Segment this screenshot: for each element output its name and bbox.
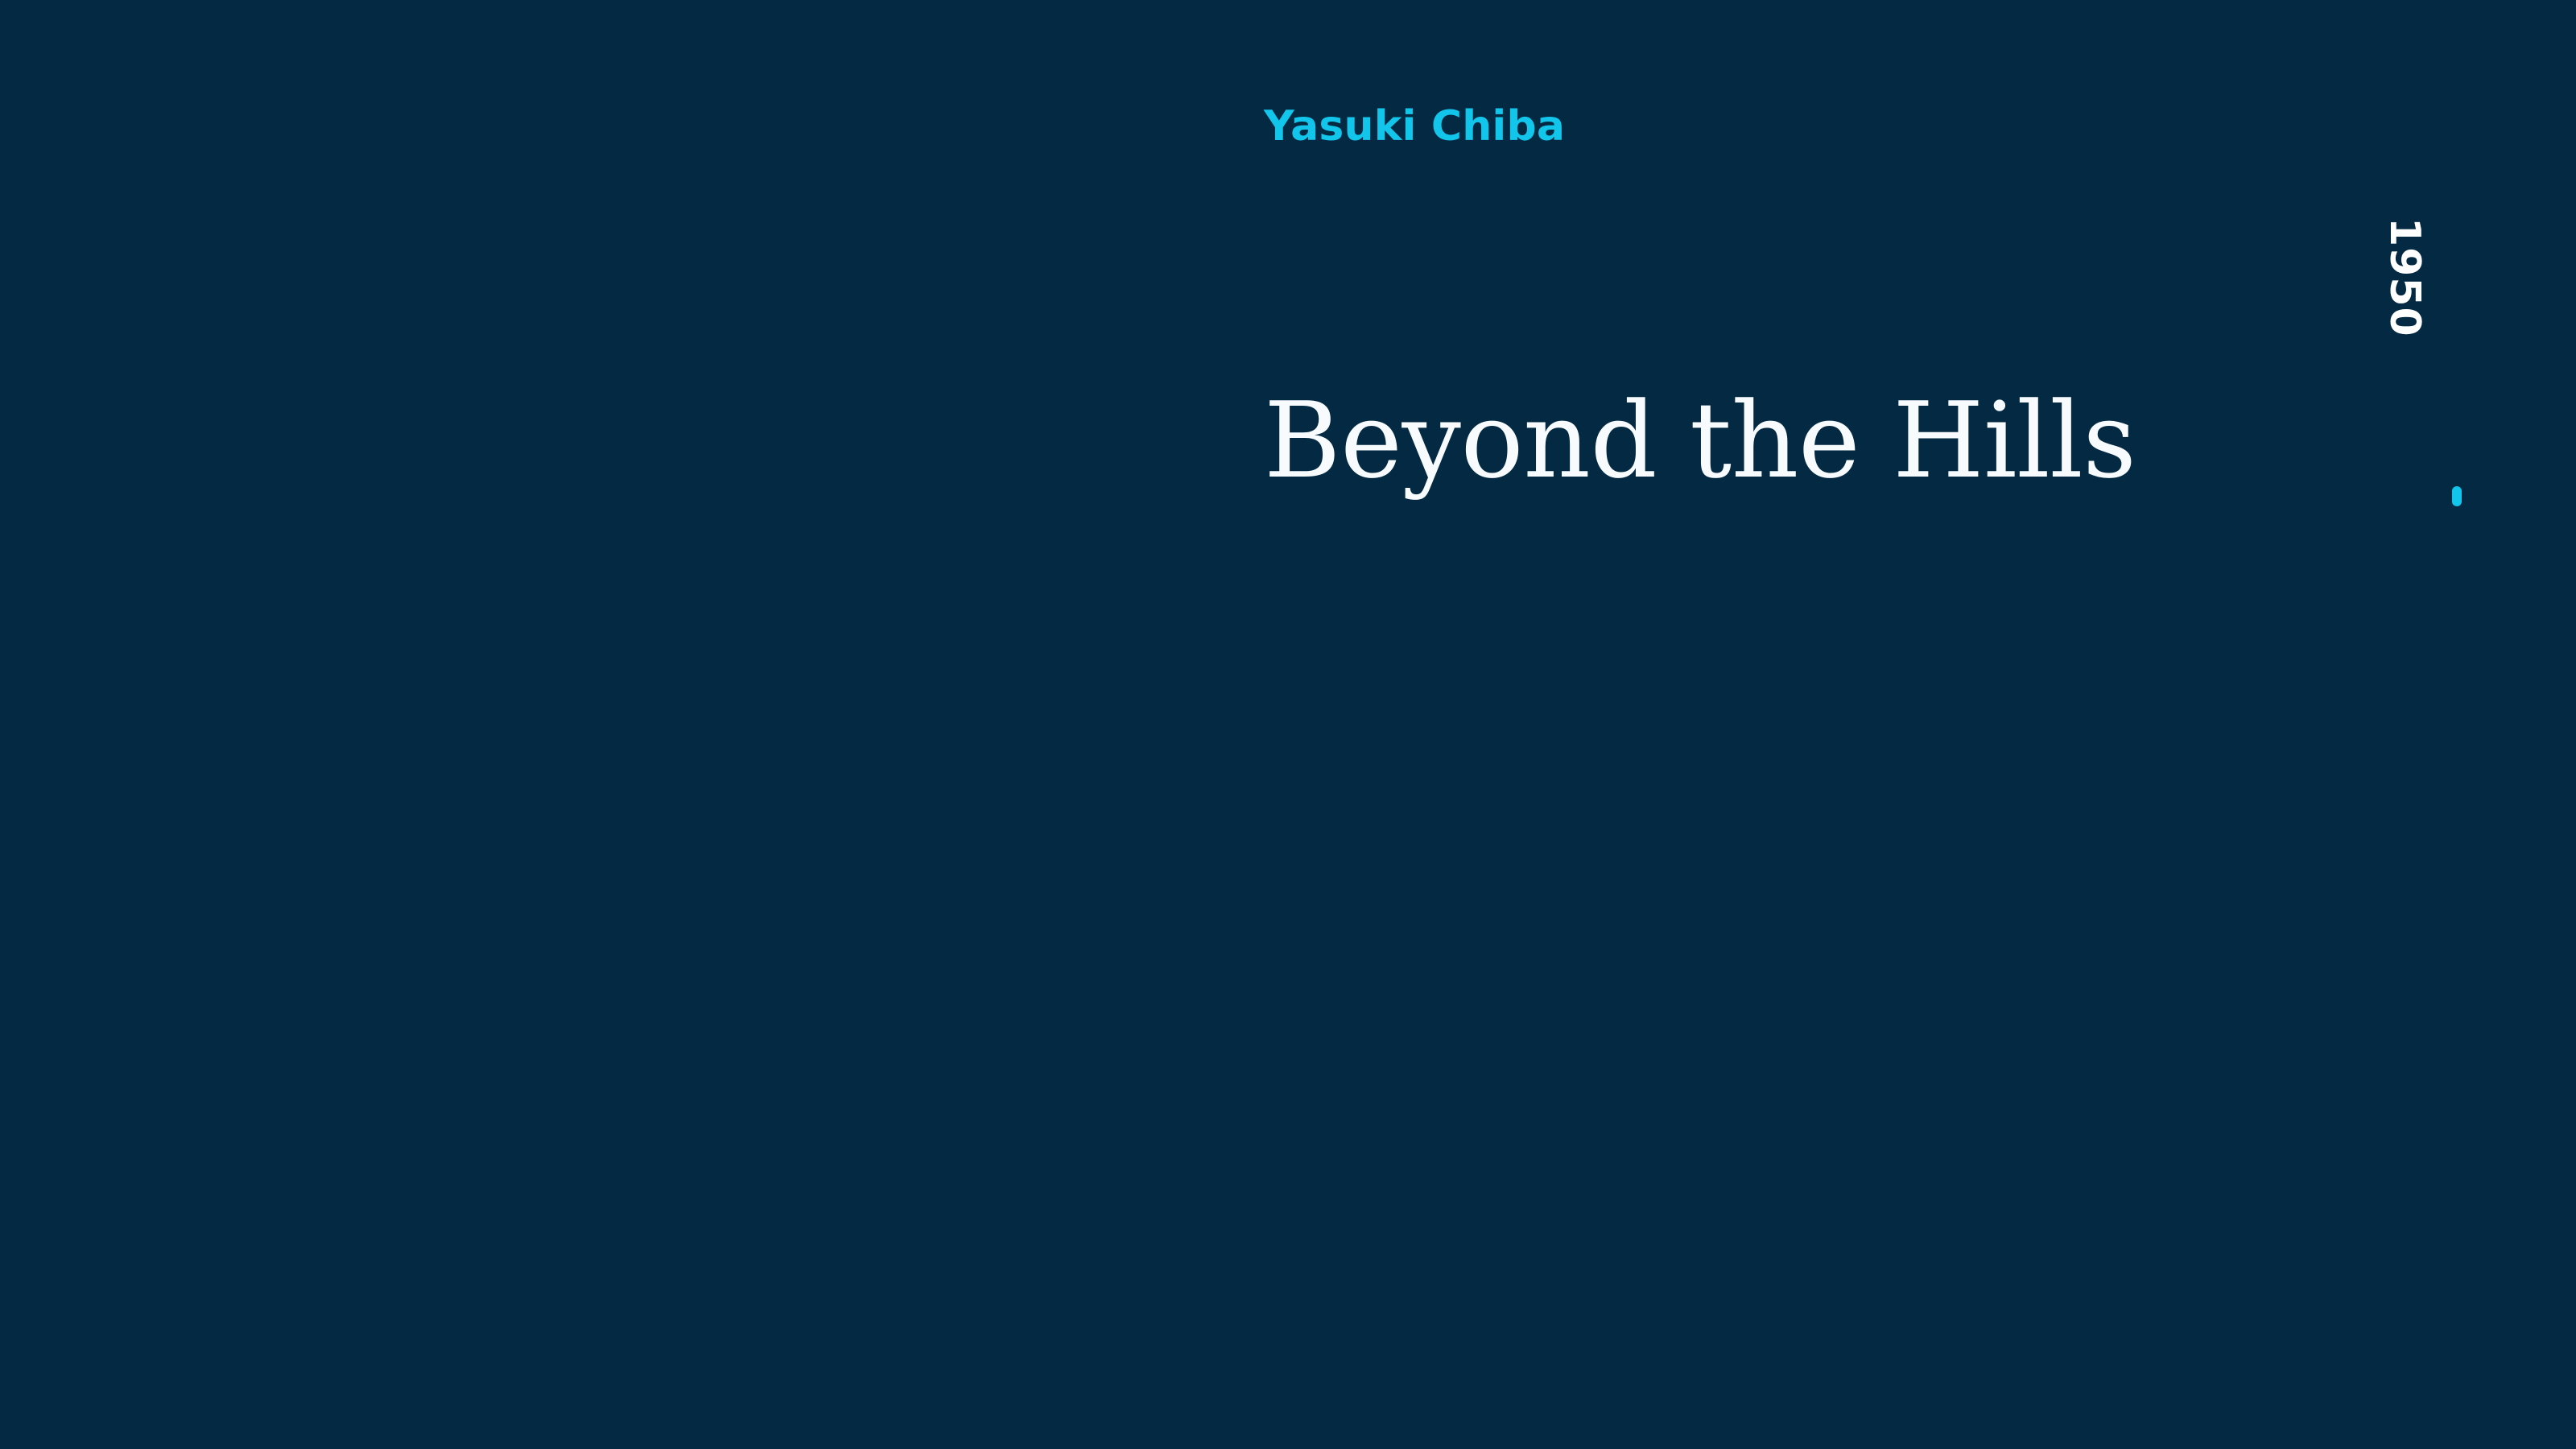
year-label: 1950: [2376, 217, 2433, 402]
dash-marker-icon: [2452, 486, 2462, 506]
page-title: Beyond the Hills: [1264, 388, 2136, 493]
author-name: Yasuki Chiba: [1264, 105, 2310, 149]
title-block: Yasuki Chiba Beyond the Hills: [1264, 105, 2310, 149]
side-rail: 1950: [2433, 217, 2505, 539]
title-card-canvas: Yasuki Chiba Beyond the Hills 1950: [0, 0, 2576, 1449]
